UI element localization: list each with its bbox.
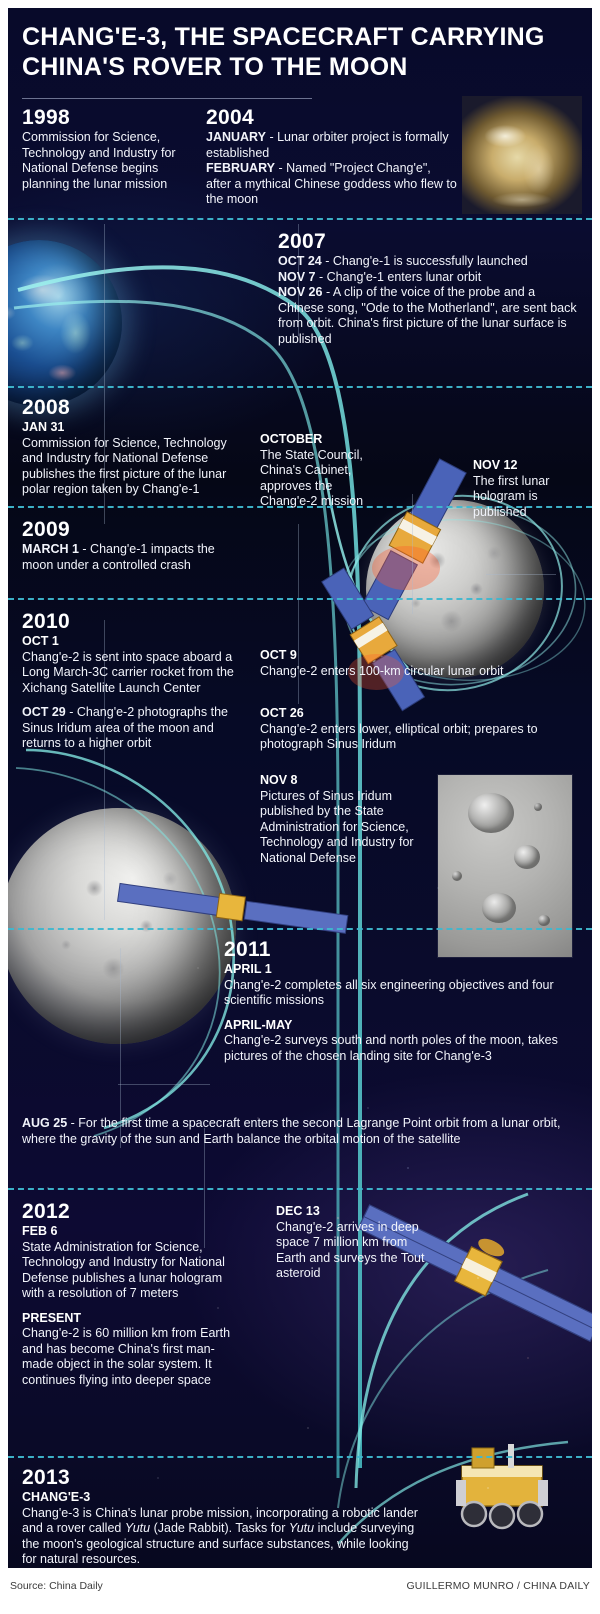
label-october: OCTOBER: [260, 432, 378, 448]
entry-2007-nov7: NOV 7 - Chang'e-1 enters lunar orbit: [278, 270, 578, 286]
entry-2007-oct24: OCT 24 - Chang'e-1 is successfully launc…: [278, 254, 578, 270]
year-2010: 2010: [22, 610, 234, 633]
label-dec-13: DEC 13: [276, 1204, 436, 1220]
entry-2010-oct29: OCT 29 - Chang'e-2 photographs the Sinus…: [22, 705, 234, 752]
crater-medium: [514, 845, 540, 869]
year-2008: 2008: [22, 396, 238, 419]
entry-2010-oct1-body: Chang'e-2 is sent into space aboard a Lo…: [22, 650, 234, 697]
entry-nov-8: NOV 8 Pictures of Sinus Iridum published…: [260, 773, 430, 866]
text-nov-7: - Chang'e-1 enters lunar orbit: [316, 270, 482, 284]
year-2009: 2009: [22, 518, 230, 541]
full-moon-craters: [8, 808, 236, 1044]
entry-2004-february: FEBRUARY - Named "Project Chang'e", afte…: [206, 161, 458, 208]
year-2013: 2013: [22, 1466, 422, 1489]
label-oct-1: OCT 1: [22, 634, 234, 650]
separator-2008: [8, 386, 592, 388]
title-rule: [22, 98, 312, 99]
entry-2010: 2010 OCT 1 Chang'e-2 is sent into space …: [22, 610, 234, 752]
full-moon-image: [8, 808, 236, 1044]
footer: Source: China Daily GUILLERMO MUNRO / CH…: [0, 1578, 600, 1604]
label-nov-12-hologram: NOV 12: [473, 458, 583, 474]
entry-oct-26: OCT 26 Chang'e-2 enters lower, elliptica…: [260, 706, 576, 753]
entry-1998-body: Commission for Science, Technology and I…: [22, 130, 198, 192]
guide-line-4: [412, 494, 413, 614]
entry-october-2010: OCTOBER The State Council, China's Cabin…: [260, 432, 378, 510]
infographic-page: CHANG'E-3, THE SPACECRAFT CARRYING CHINA…: [0, 0, 600, 1614]
entry-2011: 2011 APRIL 1 Chang'e-2 completes all six…: [224, 938, 580, 1064]
label-oct-24: OCT 24: [278, 254, 322, 268]
text-change-3: Chang'e-3 is China's lunar probe mission…: [22, 1506, 422, 1568]
entry-2008-body: Commission for Science, Technology and I…: [22, 436, 238, 498]
entry-oct-9: OCT 9 Chang'e-2 enters 100-km circular l…: [260, 648, 576, 679]
label-march-1: MARCH 1: [22, 542, 79, 556]
guide-line-8: [118, 1084, 210, 1085]
entry-2009: 2009 MARCH 1 - Chang'e-1 impacts the moo…: [22, 518, 230, 573]
text-yutu-2: Yutu: [289, 1521, 314, 1535]
crater-small-3: [534, 803, 542, 811]
text-dec-13: Chang'e-2 arrives in deep space 7 millio…: [276, 1220, 436, 1282]
year-2004: 2004: [206, 106, 458, 129]
label-april-may: APRIL-MAY: [224, 1018, 580, 1034]
goddess-robes: [462, 96, 582, 214]
text-nov-26: - A clip of the voice of the probe and a…: [278, 285, 577, 346]
entry-2008: 2008 JAN 31 Commission for Science, Tech…: [22, 396, 238, 498]
source-label: Source: China Daily: [10, 1580, 103, 1592]
separator-2011: [8, 928, 592, 930]
label-jan-31: JAN 31: [22, 420, 238, 436]
text-oct-9: Chang'e-2 enters 100-km circular lunar o…: [260, 664, 576, 680]
text-feb-6: State Administration for Science, Techno…: [22, 1240, 242, 1302]
text-present: Chang'e-2 is 60 million km from Earth an…: [22, 1326, 242, 1388]
year-2012: 2012: [22, 1200, 242, 1223]
crater-small-2: [538, 915, 550, 926]
entry-dec-13: DEC 13 Chang'e-2 arrives in deep space 7…: [276, 1204, 436, 1282]
crater-lower: [482, 893, 516, 923]
label-aug-25: AUG 25: [22, 1116, 67, 1130]
year-2011: 2011: [224, 938, 580, 961]
separator-2012: [8, 1188, 592, 1190]
guide-line-9: [486, 574, 556, 575]
text-nov-12-hologram: The first lunar hologram is published: [473, 474, 583, 521]
text-april-may: Chang'e-2 surveys south and north poles …: [224, 1033, 580, 1064]
entry-2004-january: JANUARY - Lunar orbiter project is forma…: [206, 130, 458, 161]
entry-aug-25: AUG 25 - For the first time a spacecraft…: [22, 1116, 578, 1147]
entry-2007-nov26: NOV 26 - A clip of the voice of the prob…: [278, 285, 578, 347]
text-aug-25: AUG 25 - For the first time a spacecraft…: [22, 1116, 578, 1147]
text-oct-24: - Chang'e-1 is successfully launched: [322, 254, 528, 268]
crater-large: [468, 793, 514, 833]
entry-nov-12: NOV 12 The first lunar hologram is publi…: [473, 458, 583, 520]
text-yutu-1: Yutu: [125, 1521, 150, 1535]
text-nov-8: Pictures of Sinus Iridum published by th…: [260, 789, 430, 867]
text-oct-26: Chang'e-2 enters lower, elliptical orbit…: [260, 722, 576, 753]
entry-2004: 2004 JANUARY - Lunar orbiter project is …: [206, 106, 458, 208]
label-april-1: APRIL 1: [224, 962, 580, 978]
label-nov-7: NOV 7: [278, 270, 316, 284]
label-nov-26: NOV 26: [278, 285, 322, 299]
label-feb-6: FEB 6: [22, 1224, 242, 1240]
label-change-3: CHANG'E-3: [22, 1490, 422, 1506]
entry-2013: 2013 CHANG'E-3 Chang'e-3 is China's luna…: [22, 1466, 422, 1568]
entry-2012: 2012 FEB 6 State Administration for Scie…: [22, 1200, 242, 1388]
text-april-1: Chang'e-2 completes all six engineering …: [224, 978, 580, 1009]
separator-2013: [8, 1456, 592, 1458]
entry-2007: 2007 OCT 24 - Chang'e-1 is successfully …: [278, 230, 578, 347]
label-february: FEBRUARY: [206, 161, 275, 175]
change-goddess-illustration: [462, 96, 582, 214]
text-october: The State Council, China's Cabinet, appr…: [260, 448, 378, 510]
text-aug-25-body: - For the first time a spacecraft enters…: [22, 1116, 560, 1146]
credit-label: GUILLERMO MUNRO / CHINA DAILY: [406, 1580, 590, 1592]
label-nov-8: NOV 8: [260, 773, 430, 789]
year-1998: 1998: [22, 106, 198, 129]
separator-2007: [8, 218, 592, 220]
year-2007: 2007: [278, 230, 578, 253]
entry-1998: 1998 Commission for Science, Technology …: [22, 106, 198, 192]
label-oct-29: OCT 29: [22, 705, 66, 719]
entry-2009-body: MARCH 1 - Chang'e-1 impacts the moon und…: [22, 542, 230, 573]
label-oct-26: OCT 26: [260, 706, 576, 722]
page-title: CHANG'E-3, THE SPACECRAFT CARRYING CHINA…: [22, 22, 562, 82]
label-oct-9: OCT 9: [260, 648, 576, 664]
separator-2010: [8, 598, 592, 600]
crater-small-1: [452, 871, 462, 881]
text-change-3-b: (Jade Rabbit). Tasks for: [150, 1521, 289, 1535]
label-january: JANUARY: [206, 130, 266, 144]
poster-canvas: CHANG'E-3, THE SPACECRAFT CARRYING CHINA…: [8, 8, 592, 1568]
label-present: PRESENT: [22, 1311, 242, 1327]
